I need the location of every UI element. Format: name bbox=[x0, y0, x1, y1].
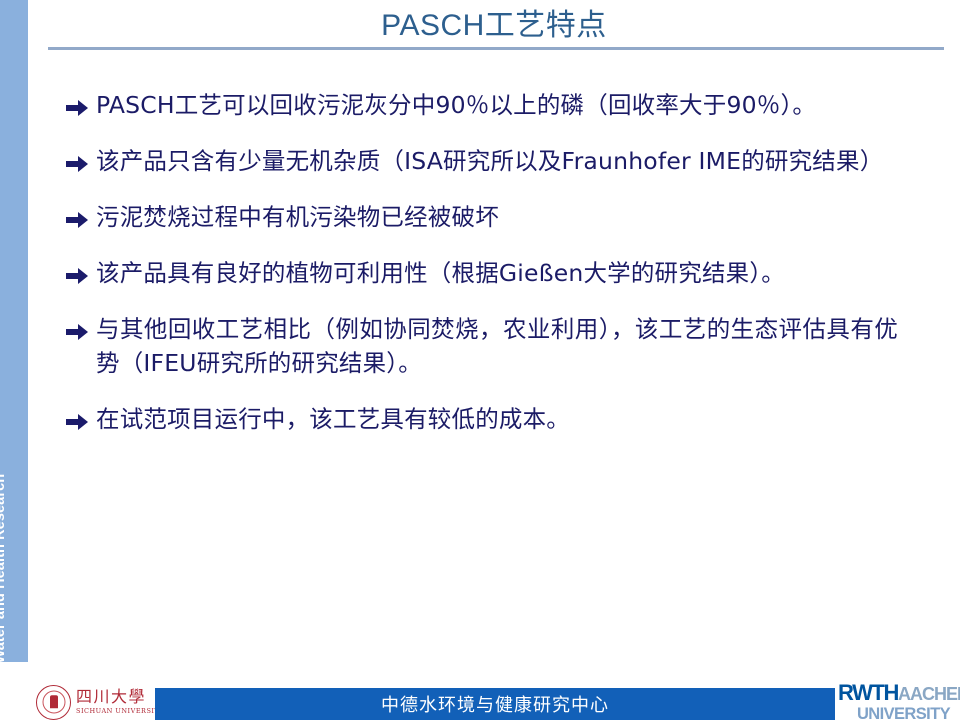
list-item-text: 在试范项目运行中，该工艺具有较低的成本。 bbox=[96, 402, 898, 436]
list-item: 该产品具有良好的植物可利用性（根据Gießen大学的研究结果）。 bbox=[62, 256, 898, 290]
arrow-right-icon bbox=[62, 312, 96, 340]
arrow-right-icon bbox=[62, 88, 96, 116]
rwth-wordmark-university: UNIVERSITY bbox=[838, 706, 950, 723]
vertical-brand-label: Sino-German Centre for Water and Health … bbox=[0, 474, 14, 662]
list-item: 与其他回收工艺相比（例如协同焚烧，农业利用），该工艺的生态评估具有优势（IFEU… bbox=[62, 312, 898, 380]
list-item: 污泥焚烧过程中有机污染物已经被破坏 bbox=[62, 200, 898, 234]
arrow-right-icon bbox=[62, 402, 96, 430]
sichuan-university-wordmark: 四川大學 SICHUAN UNIVERSITY bbox=[76, 689, 164, 715]
list-item-text: 该产品具有良好的植物可利用性（根据Gießen大学的研究结果）。 bbox=[96, 256, 898, 290]
list-item: 该产品只含有少量无机杂质（ISA研究所以及Fraunhofer IME的研究结果… bbox=[62, 144, 898, 178]
bullet-list: PASCH工艺可以回收污泥灰分中90％以上的磷（回收率大于90％）。 该产品只含… bbox=[62, 88, 898, 436]
seal-inner-glyph bbox=[50, 695, 58, 708]
list-item: 在试范项目运行中，该工艺具有较低的成本。 bbox=[62, 402, 898, 436]
list-item-text: PASCH工艺可以回收污泥灰分中90％以上的磷（回收率大于90％）。 bbox=[96, 88, 898, 122]
sichuan-university-name-cn: 四川大學 bbox=[76, 689, 164, 705]
slide-header: PASCH工艺特点 bbox=[28, 0, 960, 56]
list-item-text: 该产品只含有少量无机杂质（ISA研究所以及Fraunhofer IME的研究结果… bbox=[96, 144, 898, 178]
footer-title-text: 中德水环境与健康研究中心 bbox=[155, 691, 835, 717]
vertical-brand-bar: Sino-German Centre for Water and Health … bbox=[0, 0, 28, 662]
rwth-wordmark-line1: RWTHAACHEN bbox=[838, 687, 960, 704]
list-item: PASCH工艺可以回收污泥灰分中90％以上的磷（回收率大于90％）。 bbox=[62, 88, 898, 122]
rwth-wordmark-aachen: AACHEN bbox=[898, 684, 960, 704]
list-item-text: 与其他回收工艺相比（例如协同焚烧，农业利用），该工艺的生态评估具有优势（IFEU… bbox=[96, 312, 898, 380]
sichuan-university-name-en: SICHUAN UNIVERSITY bbox=[76, 708, 164, 715]
list-item-text: 污泥焚烧过程中有机污染物已经被破坏 bbox=[96, 200, 898, 234]
slide-footer: 四川大學 SICHUAN UNIVERSITY 中德水环境与健康研究中心 RWT… bbox=[0, 660, 960, 720]
page-title: PASCH工艺特点 bbox=[28, 8, 960, 44]
footer-title-band: 中德水环境与健康研究中心 bbox=[155, 688, 835, 720]
rwth-aachen-logo: RWTHAACHEN UNIVERSITY bbox=[838, 682, 950, 723]
sichuan-university-seal-icon bbox=[36, 685, 71, 720]
arrow-right-icon bbox=[62, 144, 96, 172]
rwth-wordmark-rwth: RWTH bbox=[838, 680, 898, 705]
sichuan-university-logo: 四川大學 SICHUAN UNIVERSITY bbox=[36, 684, 156, 720]
arrow-right-icon bbox=[62, 256, 96, 284]
title-divider bbox=[48, 47, 944, 50]
arrow-right-icon bbox=[62, 200, 96, 228]
